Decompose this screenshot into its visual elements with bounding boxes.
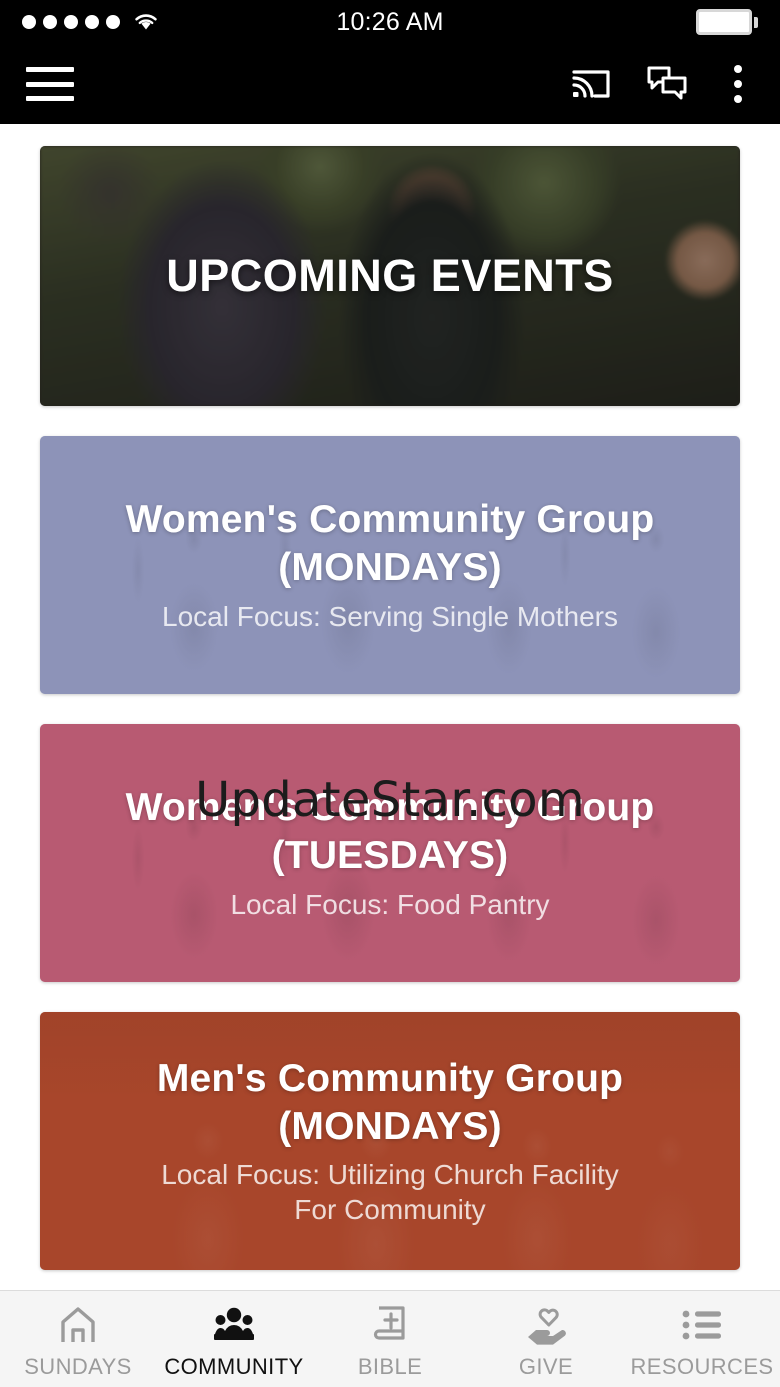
card-text: Men's Community Group (MONDAYS) Local Fo… xyxy=(123,1055,657,1226)
app-bar xyxy=(0,44,780,124)
card-title-line1: Women's Community Group xyxy=(126,498,655,541)
status-bar: 10:26 AM xyxy=(0,0,780,44)
card-subtitle-line1: Local Focus: Food Pantry xyxy=(230,889,549,920)
nav-label-community: COMMUNITY xyxy=(164,1354,303,1380)
signal-strength-icon xyxy=(22,15,120,29)
nav-item-bible[interactable]: BIBLE xyxy=(312,1291,468,1387)
app-bar-actions xyxy=(570,61,754,107)
card-title-line2: (MONDAYS) xyxy=(278,546,502,589)
church-home-icon xyxy=(57,1303,99,1347)
nav-label-sundays: SUNDAYS xyxy=(24,1354,132,1380)
card-title: Women's Community Group (TUESDAYS) xyxy=(126,784,655,879)
card-title-line1: Men's Community Group xyxy=(157,1057,623,1100)
cast-icon[interactable] xyxy=(570,66,612,102)
hamburger-menu-icon[interactable] xyxy=(26,67,74,101)
group-card[interactable]: Women's Community Group (MONDAYS) Local … xyxy=(40,436,740,694)
card-title-line1: Women's Community Group xyxy=(126,786,655,829)
nav-item-sundays[interactable]: SUNDAYS xyxy=(0,1291,156,1387)
wifi-icon xyxy=(133,12,159,32)
bottom-navigation-bar: SUNDAYS COMMUNITY BIBLE xyxy=(0,1290,780,1387)
card-subtitle-line1: Local Focus: Utilizing Church Facility xyxy=(161,1159,619,1190)
nav-label-bible: BIBLE xyxy=(358,1354,422,1380)
card-title-line2: (MONDAYS) xyxy=(278,1105,502,1148)
battery-full-icon xyxy=(696,9,758,35)
card-subtitle: Local Focus: Food Pantry xyxy=(126,888,655,922)
nav-item-give[interactable]: GIVE xyxy=(468,1291,624,1387)
nav-label-give: GIVE xyxy=(519,1354,573,1380)
overflow-menu-icon[interactable] xyxy=(722,61,754,107)
hand-heart-icon xyxy=(524,1303,568,1347)
group-card[interactable]: Women's Community Group (TUESDAYS) Local… xyxy=(40,724,740,982)
upcoming-events-hero-card[interactable]: UPCOMING EVENTS xyxy=(40,146,740,406)
card-text: Women's Community Group (TUESDAYS) Local… xyxy=(92,784,689,921)
card-text: Women's Community Group (MONDAYS) Local … xyxy=(92,496,689,633)
app-screen: 10:26 AM xyxy=(0,0,780,1387)
card-title-line2: (TUESDAYS) xyxy=(272,834,509,877)
hero-title: UPCOMING EVENTS xyxy=(166,250,614,302)
card-title: Women's Community Group (MONDAYS) xyxy=(126,496,655,591)
content-scroll-area[interactable]: UPCOMING EVENTS Women's Community Group … xyxy=(0,124,780,1290)
chat-bubbles-icon[interactable] xyxy=(646,65,688,103)
card-subtitle: Local Focus: Utilizing Church Facility F… xyxy=(157,1158,623,1226)
card-subtitle: Local Focus: Serving Single Mothers xyxy=(126,600,655,634)
nav-label-resources: RESOURCES xyxy=(631,1354,774,1380)
nav-item-resources[interactable]: RESOURCES xyxy=(624,1291,780,1387)
nav-item-community[interactable]: COMMUNITY xyxy=(156,1291,312,1387)
card-title: Men's Community Group (MONDAYS) xyxy=(157,1055,623,1150)
card-subtitle-line2: For Community xyxy=(294,1194,485,1225)
list-icon xyxy=(680,1303,724,1347)
people-group-icon xyxy=(211,1303,257,1347)
group-card[interactable]: Men's Community Group (MONDAYS) Local Fo… xyxy=(40,1012,740,1270)
bible-book-icon xyxy=(370,1303,410,1347)
card-subtitle-line1: Local Focus: Serving Single Mothers xyxy=(162,601,618,632)
